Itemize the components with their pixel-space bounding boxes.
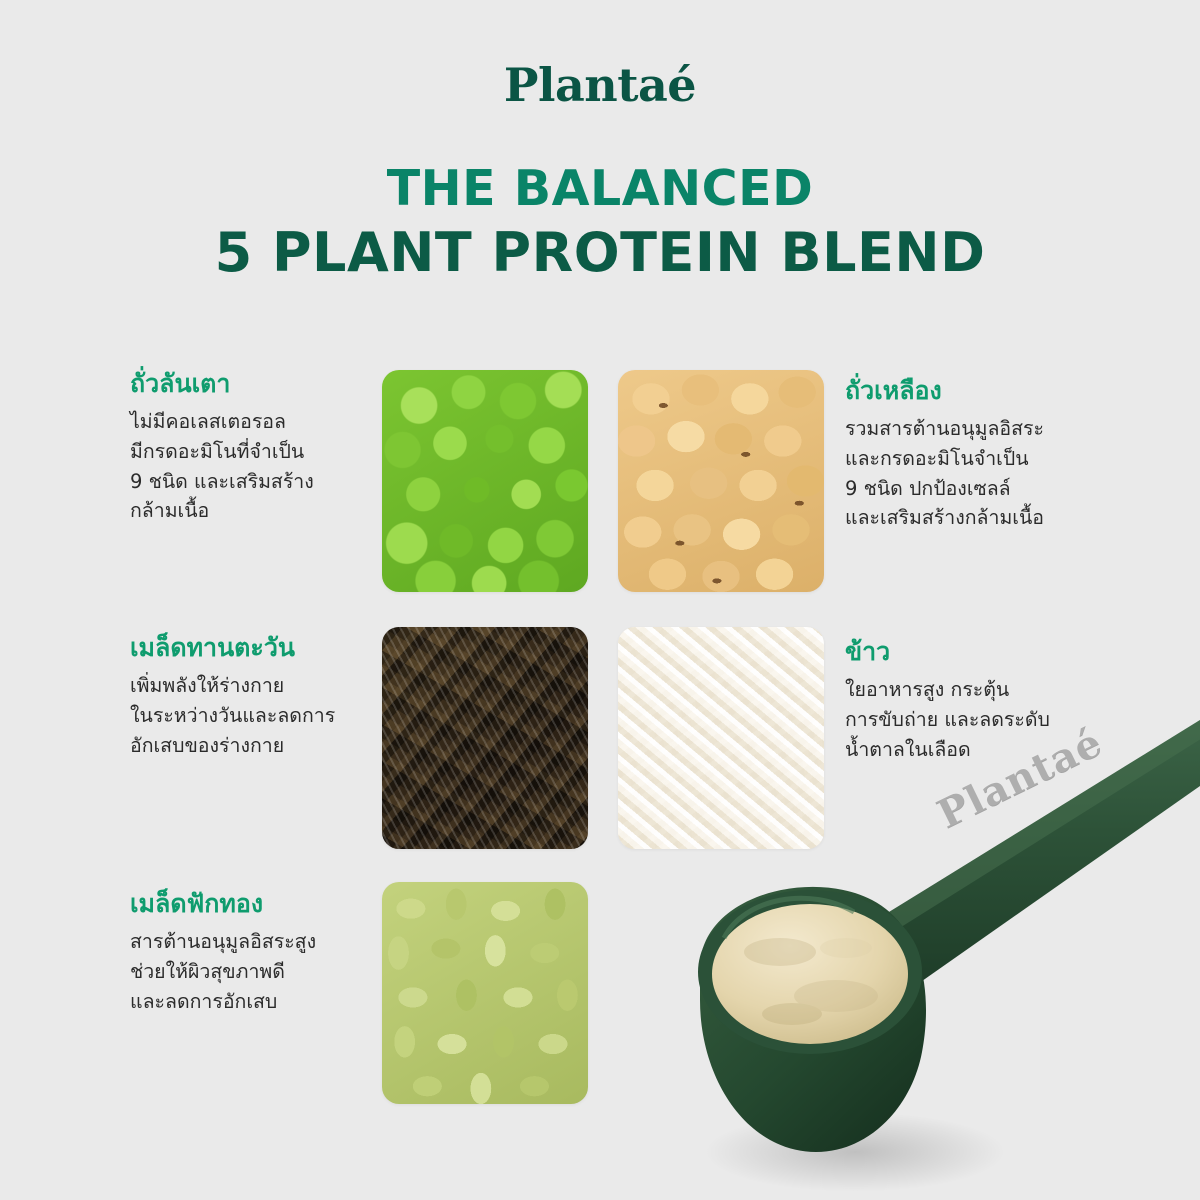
text-line: ไม่มีคอเลสเตอรอล xyxy=(130,407,380,437)
green-peas-texture xyxy=(382,370,588,592)
text-line: รวมสารต้านอนุมูลอิสระ xyxy=(845,414,1095,444)
ingredient-body-green-pea: ไม่มีคอเลสเตอรอล มีกรดอะมิโนที่จำเป็น 9 … xyxy=(130,407,380,526)
headline-line-1: THE BALANCED xyxy=(0,162,1200,217)
scoop-illustration xyxy=(640,700,1200,1200)
ingredient-text-pumpkin-seed: เมล็ดฟักทอง สารต้านอนุมูลอิสระสูง ช่วยให… xyxy=(130,888,380,1016)
soybean-hilum-marks xyxy=(618,370,824,592)
protein-powder xyxy=(712,904,908,1044)
text-line: ในระหว่างวันและลดการ xyxy=(130,701,380,731)
green-peas-photo xyxy=(382,370,588,592)
soybeans-photo xyxy=(618,370,824,592)
text-line: อักเสบของร่างกาย xyxy=(130,731,380,761)
sunflower-seeds-photo xyxy=(382,627,588,849)
ingredient-body-soybean: รวมสารต้านอนุมูลอิสระ และกรดอะมิโนจำเป็น… xyxy=(845,414,1095,533)
infographic-canvas: Plantaé THE BALANCED 5 PLANT PROTEIN BLE… xyxy=(0,0,1200,1200)
sunflower-seeds-texture xyxy=(382,627,588,849)
ingredient-body-sunflower-seed: เพิ่มพลังให้ร่างกาย ในระหว่างวันและลดการ… xyxy=(130,671,380,760)
text-line: และลดการอักเสบ xyxy=(130,987,380,1017)
text-line: ช่วยให้ผิวสุขภาพดี xyxy=(130,957,380,987)
pumpkin-seeds-texture xyxy=(382,882,588,1104)
ingredient-heading-sunflower-seed: เมล็ดทานตะวัน xyxy=(130,632,380,663)
headline-line-2: 5 PLANT PROTEIN BLEND xyxy=(0,223,1200,283)
text-line: 9 ชนิด ปกป้องเซลล์ xyxy=(845,474,1095,504)
brand-logo: Plantaé xyxy=(0,62,1200,108)
text-line: สารต้านอนุมูลอิสระสูง xyxy=(130,927,380,957)
text-line: มีกรดอะมิโนที่จำเป็น xyxy=(130,437,380,467)
ingredient-text-green-pea: ถั่วลันเตา ไม่มีคอเลสเตอรอล มีกรดอะมิโนท… xyxy=(130,368,380,526)
text-line: เพิ่มพลังให้ร่างกาย xyxy=(130,671,380,701)
text-line: และกรดอะมิโนจำเป็น xyxy=(845,444,1095,474)
ingredient-text-soybean: ถั่วเหลือง รวมสารต้านอนุมูลอิสระ และกรดอ… xyxy=(845,375,1095,533)
ingredient-body-pumpkin-seed: สารต้านอนุมูลอิสระสูง ช่วยให้ผิวสุขภาพดี… xyxy=(130,927,380,1016)
ingredient-text-sunflower-seed: เมล็ดทานตะวัน เพิ่มพลังให้ร่างกาย ในระหว… xyxy=(130,632,380,760)
product-scoop-photo: Plantaé xyxy=(640,700,1200,1200)
ingredient-heading-soybean: ถั่วเหลือง xyxy=(845,375,1095,406)
ingredient-heading-green-pea: ถั่วลันเตา xyxy=(130,368,380,399)
ingredient-heading-pumpkin-seed: เมล็ดฟักทอง xyxy=(130,888,380,919)
pumpkin-seeds-photo xyxy=(382,882,588,1104)
headline-block: THE BALANCED 5 PLANT PROTEIN BLEND xyxy=(0,162,1200,283)
text-line: กล้ามเนื้อ xyxy=(130,496,380,526)
text-line: 9 ชนิด และเสริมสร้าง xyxy=(130,467,380,497)
scoop-handle-highlight xyxy=(847,720,1200,956)
text-line: และเสริมสร้างกล้ามเนื้อ xyxy=(845,503,1095,533)
ingredient-heading-rice: ข้าว xyxy=(845,636,1095,667)
